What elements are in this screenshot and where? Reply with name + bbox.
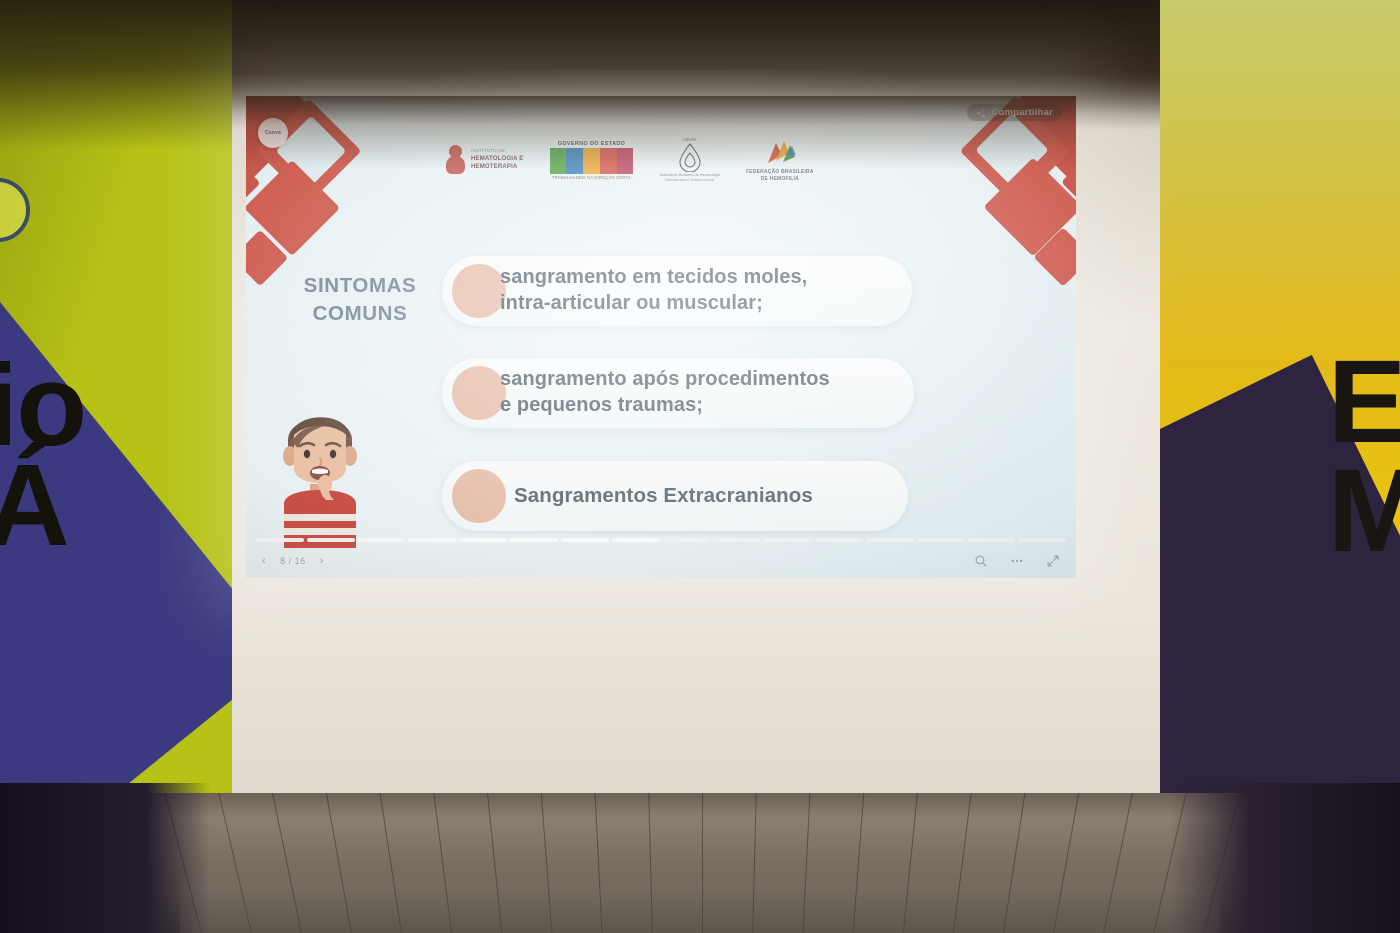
chevron-right-icon[interactable]: › xyxy=(320,555,324,567)
instituto-logo-line-1: HEMATOLOGIA E xyxy=(471,156,524,162)
ellipsis-icon[interactable] xyxy=(1010,554,1024,568)
right-banner-letter-1: E xyxy=(1328,348,1400,457)
abhh-caption-2: Hemoterapia e Terapia Celular xyxy=(665,178,714,182)
symptom-pill-1: sangramento em tecidos moles, intra-arti… xyxy=(442,256,912,326)
projection-screen: INSTITUTO DE HEMATOLOGIA E HEMOTERAPIA G… xyxy=(246,96,1076,578)
brazil-flag-bird-icon xyxy=(762,137,798,167)
symptom-pill-2-text: sangramento após procedimentos e pequeno… xyxy=(500,367,830,418)
symptom-pill-1-text: sangramento em tecidos moles, intra-arti… xyxy=(500,265,807,316)
worried-boy-illustration xyxy=(268,396,372,548)
left-banner-circle-graphic xyxy=(0,178,30,242)
fbh-caption-2: DE HEMOFILIA xyxy=(761,176,799,182)
left-banner-letters: io Á xyxy=(0,356,85,556)
right-wall-banner: E M xyxy=(1160,0,1400,820)
progress-segment[interactable] xyxy=(917,538,965,542)
symptom-3-line-1: Sangramentos Extracranianos xyxy=(514,483,813,509)
floor-shadow-left xyxy=(0,783,210,933)
slide-title-line-1: SINTOMAS xyxy=(276,272,444,300)
page-indicator: 8 / 16 xyxy=(280,556,306,566)
floor-reflection xyxy=(180,863,1220,933)
symptom-pill-3-text: Sangramentos Extracranianos xyxy=(514,483,813,509)
viewer-actions-group xyxy=(974,554,1060,568)
slide-title-line-2: COMUNS xyxy=(276,300,444,328)
instituto-logo-line-2: HEMOTERAPIA xyxy=(471,164,518,170)
progress-segment[interactable] xyxy=(663,538,711,542)
left-wall-banner: io Á xyxy=(0,0,232,800)
slide-section-title: SINTOMAS COMUNS xyxy=(276,272,444,327)
presentation-room-scene: io Á E M xyxy=(0,0,1400,933)
symptom-1-line-2: intra-articular ou muscular; xyxy=(500,291,807,317)
share-button-label: Compartilhar xyxy=(991,107,1053,118)
governo-do-estado-amapa-logo: GOVERNO DO ESTADO TRABALHANDO NA DIREÇÃO… xyxy=(550,141,634,180)
amapa-wordmark-icon xyxy=(550,148,634,174)
chevron-left-icon[interactable]: ‹ xyxy=(262,555,266,567)
progress-segment[interactable] xyxy=(459,538,507,542)
slide-progress-bar[interactable] xyxy=(256,538,1066,542)
progress-segment[interactable] xyxy=(764,538,812,542)
instituto-hematologia-hemoterapia-logo: INSTITUTO DE HEMATOLOGIA E HEMOTERAPIA xyxy=(446,145,524,175)
fbh-caption-1: FEDERAÇÃO BRASILEIRA xyxy=(746,169,814,175)
governo-logo-top: GOVERNO DO ESTADO xyxy=(550,141,634,147)
slide-canvas: INSTITUTO DE HEMATOLOGIA E HEMOTERAPIA G… xyxy=(246,96,1076,578)
progress-segment[interactable] xyxy=(1018,538,1066,542)
left-banner-letter-2: Á xyxy=(0,456,85,556)
progress-segment[interactable] xyxy=(866,538,914,542)
progress-segment[interactable] xyxy=(358,538,406,542)
progress-segment[interactable] xyxy=(612,538,660,542)
viewer-nav-group: ‹ 8 / 16 › xyxy=(262,555,324,567)
canva-brand-badge[interactable]: Canva xyxy=(258,118,288,148)
progress-segment[interactable] xyxy=(967,538,1015,542)
abhh-caption-1: Associação Brasileira de Hematologia xyxy=(660,173,721,177)
governo-logo-slogan: TRABALHANDO NA DIREÇÃO CERTA xyxy=(550,175,634,180)
progress-segment[interactable] xyxy=(408,538,456,542)
share-button[interactable]: Compartilhar xyxy=(967,104,1062,121)
fbh-caption: FEDERAÇÃO BRASILEIRA DE HEMOFILIA xyxy=(746,169,814,183)
slide-logo-row: INSTITUTO DE HEMATOLOGIA E HEMOTERAPIA G… xyxy=(446,132,896,188)
bullet-dot-icon xyxy=(452,264,506,318)
bullet-dot-icon xyxy=(452,366,506,420)
right-banner-letters: E M xyxy=(1328,348,1400,565)
symptom-pill-3: Sangramentos Extracranianos xyxy=(442,461,908,531)
abhh-blood-drop-logo: ABHH Associação Brasileira de Hematologi… xyxy=(660,137,721,183)
fullscreen-icon[interactable] xyxy=(1046,554,1060,568)
abhh-abbr: ABHH xyxy=(660,137,721,142)
blood-drop-icon xyxy=(677,142,703,172)
person-drop-icon xyxy=(446,145,466,175)
symptom-1-line-1: sangramento em tecidos moles, xyxy=(500,265,807,291)
progress-segment[interactable] xyxy=(256,538,304,542)
viewer-toolbar: ‹ 8 / 16 › xyxy=(246,544,1076,578)
federacao-brasileira-hemofilia-logo: FEDERAÇÃO BRASILEIRA DE HEMOFILIA xyxy=(746,137,814,183)
symptom-2-line-1: sangramento após procedimentos xyxy=(500,367,830,393)
floor-shadow-right xyxy=(1170,783,1400,933)
progress-segment[interactable] xyxy=(307,538,355,542)
progress-segment[interactable] xyxy=(713,538,761,542)
progress-segment[interactable] xyxy=(815,538,863,542)
instituto-logo-text: INSTITUTO DE HEMATOLOGIA E HEMOTERAPIA xyxy=(471,148,524,172)
bullet-dot-icon xyxy=(452,469,506,523)
symptom-pill-2: sangramento após procedimentos e pequeno… xyxy=(442,358,914,428)
symptom-2-line-2: e pequenos traumas; xyxy=(500,393,830,419)
left-banner-shadow xyxy=(0,0,232,150)
right-banner-letter-2: M xyxy=(1328,457,1400,566)
progress-segment[interactable] xyxy=(561,538,609,542)
instituto-logo-line-small: INSTITUTO DE xyxy=(471,148,524,155)
magnifier-icon[interactable] xyxy=(974,554,988,568)
share-icon xyxy=(976,108,986,118)
abhh-caption: Associação Brasileira de Hematologia Hem… xyxy=(660,173,721,183)
progress-segment[interactable] xyxy=(510,538,558,542)
